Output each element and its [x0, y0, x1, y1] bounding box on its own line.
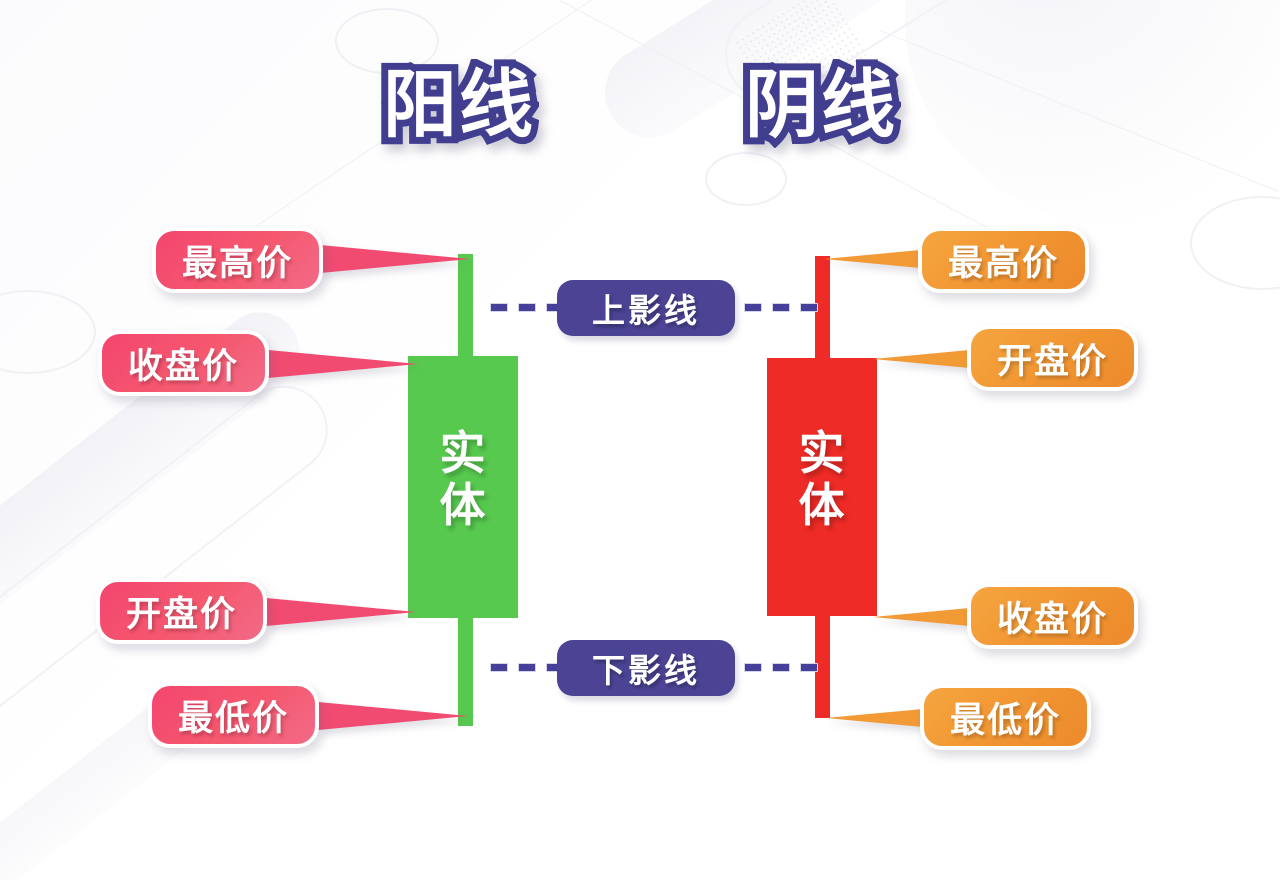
dashed-connector-upper-right: [744, 303, 818, 312]
bullish-candle-body: 实体: [408, 356, 518, 618]
dash-segment: [800, 663, 818, 672]
dashed-connector-lower-left: [490, 663, 564, 672]
dash-segment: [744, 663, 762, 672]
bg-circle-3: [0, 290, 96, 374]
pointer-bullish-low: [318, 702, 468, 730]
bg-line-3: [880, 30, 1279, 192]
dashed-connector-upper-left: [490, 303, 564, 312]
label-bullish-open[interactable]: 开盘价: [96, 578, 267, 644]
label-bearish-low[interactable]: 最低价: [920, 684, 1091, 750]
label-bearish-high[interactable]: 最高价: [918, 227, 1089, 293]
page-title-bullish: 阳线: [383, 68, 535, 142]
dash-segment: [800, 303, 818, 312]
bg-fan-1: [905, 0, 1280, 230]
badge-upper-shadow[interactable]: 上影线: [557, 280, 735, 336]
page-title-bearish: 阴线: [745, 68, 897, 142]
bg-circle-2: [705, 152, 787, 206]
bullish-body-label: 实体: [408, 428, 518, 531]
label-bullish-close[interactable]: 收盘价: [98, 330, 269, 396]
dash-segment: [518, 663, 536, 672]
dash-segment: [772, 303, 790, 312]
dash-segment: [490, 663, 508, 672]
pointer-bullish-high: [320, 245, 470, 273]
dash-segment: [490, 303, 508, 312]
badge-lower-shadow[interactable]: 下影线: [557, 640, 735, 696]
dash-segment: [744, 303, 762, 312]
background-decoration: [0, 0, 1280, 880]
label-bearish-open[interactable]: 开盘价: [967, 325, 1138, 391]
label-bullish-low[interactable]: 最低价: [148, 682, 319, 748]
bg-circle-4: [1190, 196, 1280, 290]
dash-segment: [772, 663, 790, 672]
dashed-connector-lower-right: [744, 663, 818, 672]
dash-segment: [518, 303, 536, 312]
label-bullish-high[interactable]: 最高价: [152, 227, 323, 293]
label-bearish-close[interactable]: 收盘价: [967, 583, 1138, 649]
pointer-bullish-close: [268, 350, 418, 378]
pointer-bullish-open: [266, 598, 416, 626]
bearish-candle-body: 实体: [767, 358, 877, 616]
bearish-body-label: 实体: [767, 428, 877, 531]
candlestick-diagram: 阳线 阴线 实体 实体 最高价 收盘价 开盘价 最低价 最高价 开盘价 收盘价 …: [0, 0, 1280, 880]
